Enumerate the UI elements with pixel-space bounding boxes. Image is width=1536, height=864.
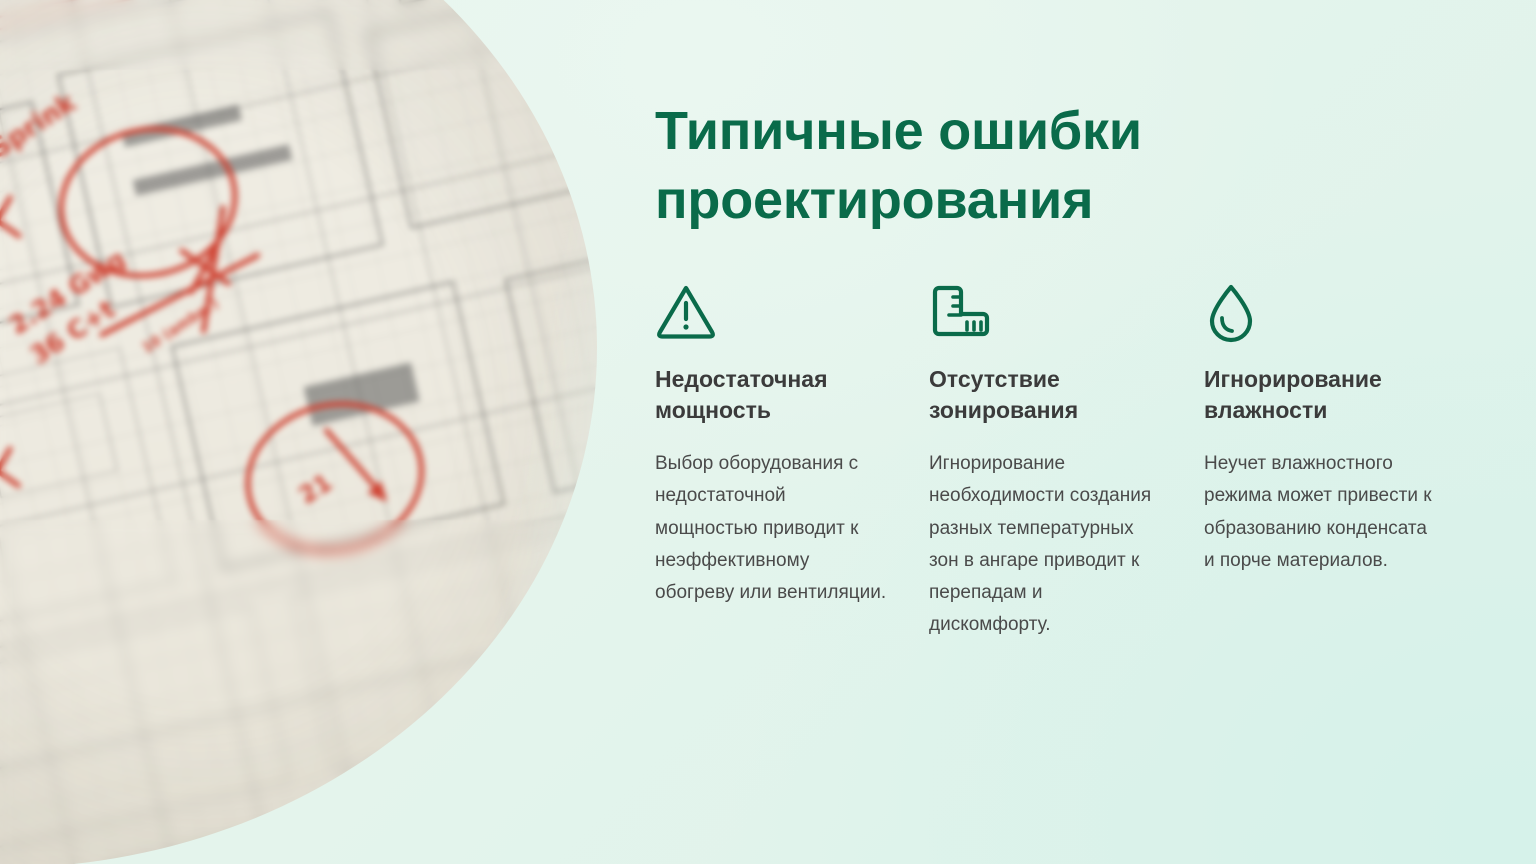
photo-background: Sprink 2.24 Gwg 36 C+t 10 (amber) 21 (0, 0, 620, 864)
columns-container: Недостаточная мощность Выбор оборудовани… (655, 282, 1495, 642)
column-heading: Недостаточная мощность (655, 364, 888, 426)
column-heading: Отсутствие зонирования (929, 364, 1162, 426)
column-body: Выбор оборудования с недостаточной мощно… (655, 448, 888, 609)
page-title: Типичные ошибки проектирования (655, 97, 1255, 235)
column-heading: Игнорирование влажности (1204, 364, 1437, 426)
content-panel: Типичные ошибки проектирования Недостато… (655, 0, 1500, 864)
column-no-zoning: Отсутствие зонирования Игнорирование нео… (929, 282, 1204, 642)
warning-triangle-icon (655, 282, 888, 348)
ruler-icon (929, 282, 1162, 348)
photo-vignette (0, 0, 620, 864)
column-ignoring-humidity: Игнорирование влажности Неучет влажностн… (1204, 282, 1479, 642)
column-body: Неучет влажностного режима может привест… (1204, 448, 1437, 577)
column-body: Игнорирование необходимости создания раз… (929, 448, 1162, 642)
column-insufficient-power: Недостаточная мощность Выбор оборудовани… (655, 282, 930, 642)
water-droplet-icon (1204, 282, 1437, 348)
slide-root: Sprink 2.24 Gwg 36 C+t 10 (amber) 21 Тип… (0, 0, 1536, 864)
blueprint-photo: Sprink 2.24 Gwg 36 C+t 10 (amber) 21 (0, 0, 620, 864)
